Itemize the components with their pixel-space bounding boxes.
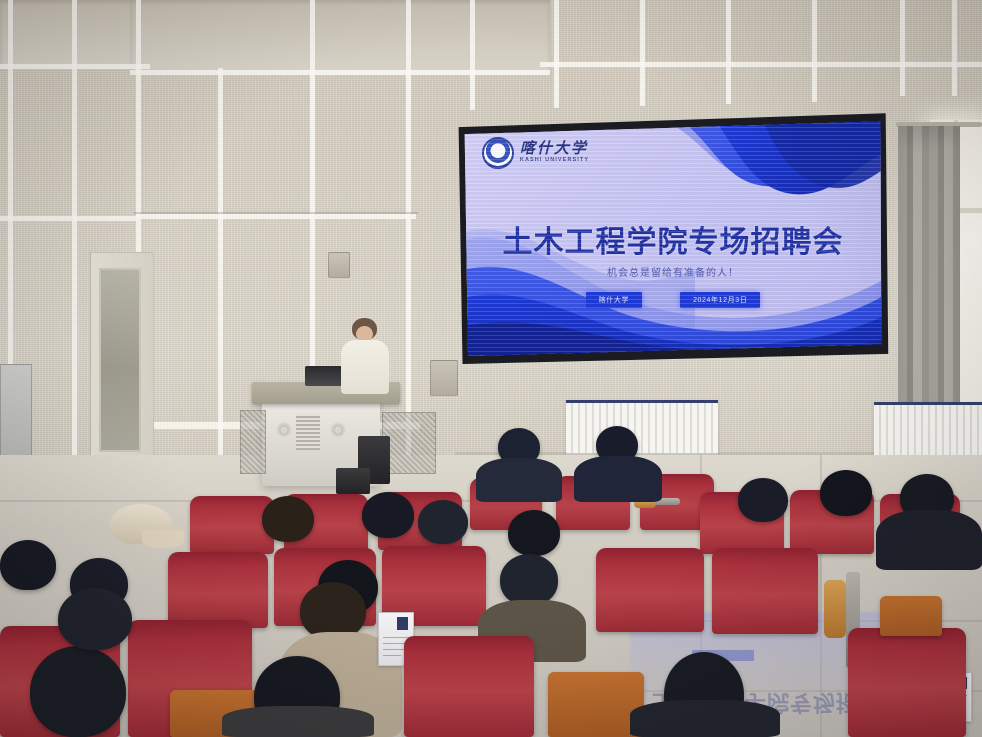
- seat-back[interactable]: [712, 548, 818, 634]
- slide-subtitle: 机会总是留给有准备的人！: [463, 264, 883, 279]
- audience-head: [262, 496, 314, 542]
- wall-seam: [812, 0, 817, 102]
- flyer-text-line: [383, 637, 409, 638]
- wall-seam: [900, 0, 905, 96]
- podium-door-right[interactable]: [382, 412, 436, 474]
- presentation-slide: 喀什大学 KASHI UNIVERSITY 土木工程学院专场招聘会 机会总是留给…: [463, 120, 883, 356]
- podium-fan-grille-right: [330, 422, 346, 438]
- flyer-photo: [397, 617, 408, 630]
- led-display[interactable]: 喀什大学 KASHI UNIVERSITY 土木工程学院专场招聘会 机会总是留给…: [463, 120, 883, 356]
- wall-seam: [130, 70, 550, 75]
- wall-speaker: [328, 252, 350, 278]
- floor-speaker-secondary: [336, 468, 370, 494]
- wall-seam: [136, 214, 416, 219]
- university-name-en: KASHI UNIVERSITY: [520, 158, 589, 164]
- photo-scene: 喀什大学 KASHI UNIVERSITY 土木工程学院专场招聘会 机会总是留给…: [0, 0, 982, 737]
- wall-seam: [640, 0, 645, 106]
- wall-seam: [540, 62, 982, 67]
- seat-back[interactable]: [596, 548, 704, 632]
- audience-head: [418, 500, 468, 544]
- wall-seam: [554, 0, 559, 108]
- audience-head: [0, 540, 56, 590]
- radiator: [566, 400, 718, 455]
- slide-badge-row: 喀什大学 2024年12月3日: [463, 292, 883, 308]
- audience-head: [362, 492, 414, 538]
- audience-shoulders: [630, 700, 780, 737]
- audience-head: [58, 588, 132, 650]
- podium-door-left[interactable]: [240, 410, 266, 474]
- audience-shoulders: [222, 706, 374, 737]
- audience-shoulders: [574, 456, 662, 502]
- university-logo-text: 喀什大学 KASHI UNIVERSITY: [520, 142, 589, 164]
- side-door[interactable]: [99, 268, 141, 452]
- wall-seam: [952, 0, 957, 96]
- ceiling-soffit-upper: [130, 0, 550, 76]
- podium-fan-grille-left: [276, 422, 292, 438]
- university-name-cn: 喀什大学: [520, 142, 589, 158]
- seat-back[interactable]: [190, 496, 274, 554]
- curtain[interactable]: [898, 126, 960, 420]
- audience-head: [820, 470, 872, 516]
- university-logo: 喀什大学 KASHI UNIVERSITY: [482, 137, 589, 169]
- slide-badge-date: 2024年12月3日: [680, 292, 760, 308]
- audience-head: [500, 554, 558, 606]
- presenter: [341, 340, 389, 394]
- seat-back[interactable]: [404, 636, 534, 737]
- seat-armrest: [824, 580, 846, 638]
- audience-head: [508, 510, 560, 556]
- seat-back[interactable]: [848, 628, 966, 737]
- wall-speaker-right: [430, 360, 458, 396]
- wall-panel-box: [0, 364, 32, 462]
- flyer-text-line: [383, 655, 401, 656]
- flyer-text-line: [383, 643, 405, 644]
- audience-shoulders: [876, 510, 982, 570]
- wall-seam: [726, 0, 731, 104]
- audience-shoulders: [476, 458, 562, 502]
- slide-content: 喀什大学 KASHI UNIVERSITY 土木工程学院专场招聘会 机会总是留给…: [463, 120, 883, 356]
- wall-seam: [218, 68, 223, 498]
- seat-pad[interactable]: [880, 596, 942, 636]
- wall-seam: [406, 0, 411, 160]
- seat-back[interactable]: [168, 552, 268, 628]
- slide-badge-organizer: 喀什大学: [586, 292, 642, 308]
- audience-head: [738, 478, 788, 522]
- wall-seam: [470, 0, 475, 110]
- wall-seam: [0, 216, 138, 221]
- wall-seam: [0, 64, 150, 69]
- wall-seam: [72, 0, 77, 480]
- audience-head: [30, 646, 126, 737]
- podium-vent: [296, 414, 320, 450]
- audience-cap-brim: [142, 530, 184, 548]
- radiator: [874, 402, 982, 459]
- slide-title: 土木工程学院专场招聘会: [463, 217, 883, 261]
- wall-seam: [134, 212, 418, 214]
- university-emblem-icon: [482, 137, 514, 169]
